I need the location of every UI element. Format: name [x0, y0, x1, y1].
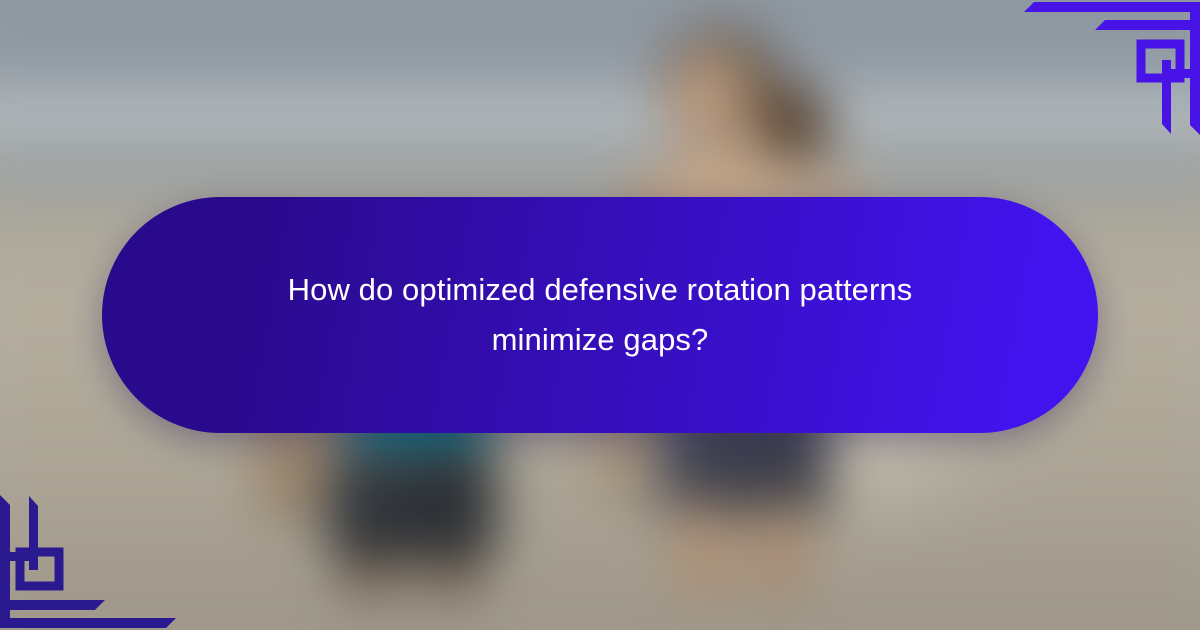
person-right-leg-far [752, 500, 808, 598]
question-banner: How do optimized defensive rotation patt… [102, 197, 1098, 433]
sky-region [0, 0, 1200, 160]
question-text: How do optimized defensive rotation patt… [220, 265, 980, 365]
person-right-head [666, 46, 758, 150]
person-left-leg-near [342, 538, 400, 598]
banner-card: How do optimized defensive rotation patt… [0, 0, 1200, 630]
person-left-leg-far [422, 538, 480, 598]
person-right-leg-near [674, 500, 730, 598]
